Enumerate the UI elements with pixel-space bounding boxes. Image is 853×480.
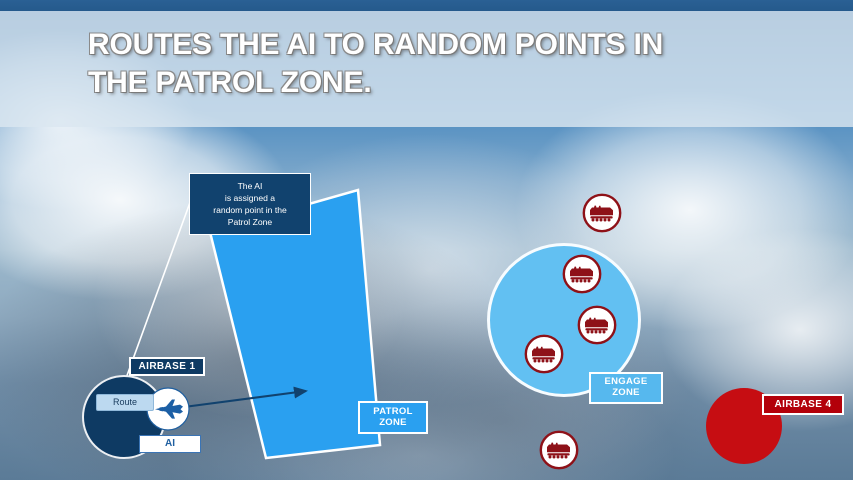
enemy-tank-icon-5[interactable]: [539, 430, 579, 470]
label-engage-zone[interactable]: ENGAGE ZONE: [589, 372, 663, 404]
slide-canvas: ROUTES THE AI TO RANDOM POINTS IN THE PA…: [0, 0, 853, 480]
enemy-tank-icon-2[interactable]: [562, 254, 602, 294]
top-accent-strip: [0, 0, 853, 11]
label-airbase-1[interactable]: AIRBASE 1: [129, 357, 205, 376]
label-route[interactable]: Route: [96, 394, 154, 411]
label-patrol-zone[interactable]: PATROL ZONE: [358, 401, 428, 434]
label-airbase-4[interactable]: AIRBASE 4: [762, 394, 844, 415]
callout-box: The AI is assigned a random point in the…: [189, 173, 311, 235]
label-ai[interactable]: AI: [139, 435, 201, 453]
enemy-tank-icon-1[interactable]: [582, 193, 622, 233]
enemy-tank-icon-3[interactable]: [577, 305, 617, 345]
page-title: ROUTES THE AI TO RANDOM POINTS IN THE PA…: [88, 26, 788, 102]
enemy-tank-icon-4[interactable]: [524, 334, 564, 374]
